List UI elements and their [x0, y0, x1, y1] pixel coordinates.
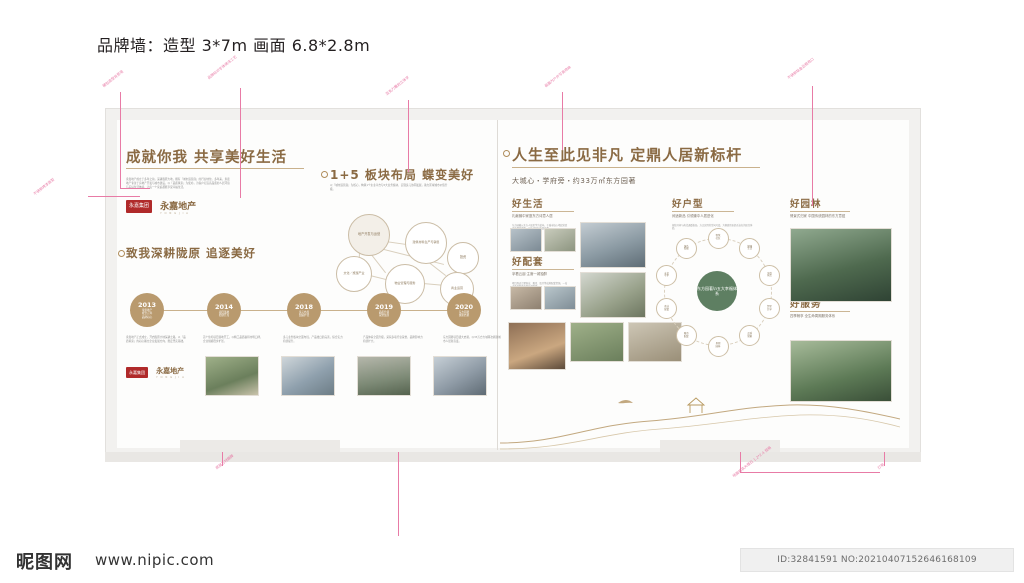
timeline-note: 焕新启幕 [459, 314, 469, 317]
flower-petal-label: 智慧社区 [716, 235, 721, 241]
section-desc-garden: 情景式归家 中国传统园林的东方意蕴 [790, 213, 845, 218]
flower-petal: 智慧社区 [708, 228, 729, 249]
leader-line [740, 472, 880, 473]
section-underline-amenities [512, 269, 574, 270]
panel-divider [497, 120, 498, 450]
leader-line [562, 92, 563, 150]
section-desc-unit: 阔适新品 引领臻中人居进化 [672, 213, 714, 218]
timeline-year: 2020 [455, 303, 473, 311]
flower-petal: 邻里共享 [759, 298, 780, 319]
leader-line [88, 196, 140, 197]
timeline-description: 产品体系全面升级，荣获多项行业荣誉，品牌影响力持续扩大。 [363, 336, 423, 344]
small-thumbnail [544, 228, 576, 252]
annotation-label: 不锈钢烤漆造型 [33, 178, 56, 197]
flower-petal-label: 安全守护 [664, 273, 669, 279]
block-node-label: 游产业 [356, 272, 365, 276]
flower-petal-label: 全龄乐活 [767, 273, 772, 279]
flower-petal-label: 品质管家 [747, 333, 752, 339]
block-node: 建筑材料生产与销售 [405, 222, 447, 264]
logo-pinyin-small: Y O N G J I A [156, 376, 185, 379]
annotation-label: 不锈钢钛金边框收口 [787, 57, 816, 81]
garden-photo [790, 228, 892, 302]
flower-petal-label: 商业配套 [664, 306, 669, 312]
logo-wordmark-text: 永嘉地产 [160, 202, 196, 212]
flower-core: 东方园著\n五大幸福体系 [697, 271, 737, 311]
flower-petal-label: 教育配套 [684, 333, 689, 339]
block-node-label: 与运营 [371, 233, 381, 237]
logo-pinyin: Y O N G J I A [160, 212, 196, 215]
block-node: 投资 [447, 242, 479, 274]
leader-line [240, 88, 241, 198]
timeline-node: 2019品质升级荣誉加身 [367, 293, 401, 327]
timeline-description: 永嘉地产正式成立，开启陇原大地深耕之路，以「品质筑家」的初心确立企业发展方向，奠… [126, 336, 186, 344]
section-underline-unit [672, 211, 734, 212]
board-base-notch-left [180, 440, 340, 452]
section-heading-garden: 好园林 [790, 196, 822, 210]
block-node-label: 物业管理 [394, 282, 406, 286]
small-thumbnail [544, 286, 576, 310]
render-thumbnail [580, 222, 646, 268]
block-node-label: 地产开发 [358, 233, 371, 237]
render-thumbnail [580, 272, 646, 318]
block-layout-title: 1+5 板块布局 蝶变美好 [330, 166, 474, 183]
timeline-year: 2019 [375, 303, 393, 311]
block-node: 地产开发与运营 [348, 214, 390, 256]
leader-line [740, 452, 741, 472]
flower-petal: 全龄乐活 [759, 265, 780, 286]
landscape-thumbnail [628, 322, 682, 362]
timeline-node: 2020东方园著焕新启幕 [447, 293, 481, 327]
project-thumbnail [433, 356, 487, 396]
image-id-badge: ID:32841591 NO:20210407152646168109 [740, 548, 1014, 572]
leader-line [120, 92, 121, 188]
logo-wordmark: 永嘉地产 Y O N G J I A [160, 199, 196, 215]
left-title-underline [126, 168, 304, 169]
right-title-underline [512, 167, 760, 168]
timeline-node: 2013永嘉地产成立元年品牌初心 [130, 293, 164, 327]
right-panel-subtitle: 大城心・学府旁・约33万㎡东方园著 [512, 176, 636, 186]
left-bottom-logo: 永嘉集团 永嘉地产 Y O N G J I A [126, 362, 185, 381]
page-title: 品牌墙：造型 3*7m 画面 6.8*2.8m [97, 32, 370, 56]
developer-logo: 永嘉集团 永嘉地产 Y O N G J I A [126, 196, 301, 210]
left-panel-subtitle: 致我深耕陇原 追逐美好 [126, 245, 256, 261]
flower-petal: 安全守护 [656, 265, 677, 286]
timeline-year: 2013 [138, 301, 156, 309]
small-thumbnail [510, 286, 542, 310]
timeline-node: 2018多元布局加速扩张 [287, 293, 321, 327]
timeline-note: 加速扩张 [299, 314, 309, 317]
flower-petal: 绿色低碳 [676, 238, 697, 259]
timeline-node: 2014项目落地稳健开局 [207, 293, 241, 327]
logo-wordmark-small: 永嘉地产 Y O N G J I A [156, 366, 185, 379]
timeline-description: 首个住宅项目落地开工，以精工品质赢得市场口碑，企业规模稳步扩张。 [203, 336, 263, 344]
section-heading-amenities: 好配套 [512, 254, 544, 268]
site-url[interactable]: www.nipic.com [95, 551, 214, 569]
timeline-note: 品牌初心 [142, 316, 152, 319]
poster-page: 品牌墙：造型 3*7m 画面 6.8*2.8m 成就你我 共享美好生活 永嘉地产… [0, 0, 1024, 583]
section-heading-life: 好生活 [512, 196, 544, 210]
interior-thumbnail [508, 322, 566, 370]
timeline-year: 2018 [295, 303, 313, 311]
flower-petal-label: 邻里共享 [767, 306, 772, 312]
flower-petal-label: 健康生活 [747, 246, 752, 252]
timeline-note: 稳健开局 [219, 314, 229, 317]
project-thumbnail [281, 356, 335, 396]
leader-line [398, 452, 399, 536]
logo-wordmark-small-text: 永嘉地产 [156, 367, 184, 375]
block-node-label: 与服务 [407, 282, 416, 286]
timeline-year: 2014 [215, 303, 233, 311]
landscape-thumbnail [570, 322, 624, 362]
timeline-note: 荣誉加身 [379, 314, 389, 317]
logo-badge: 永嘉集团 [126, 200, 152, 213]
block-node-label: 建筑材料 [412, 241, 424, 245]
section-underline-service [790, 311, 850, 312]
section-desc-life: 礼献臻中家庭东方诗意人居 [512, 213, 553, 218]
block-node: 文化／旅游产业 [336, 256, 372, 292]
leader-line [222, 452, 223, 466]
flower-petal: 景观园林 [708, 336, 729, 357]
timeline-description: 多元业务板块全面布局，产品线日趋完善，综合实力持续提升。 [283, 336, 343, 344]
block-node-label: 文化／旅 [343, 272, 355, 276]
footer-divider [0, 540, 1024, 541]
flower-petal-label: 绿色低碳 [684, 246, 689, 252]
flower-petal: 健康生活 [739, 238, 760, 259]
block-node-label: 投资 [460, 256, 466, 260]
logo-badge-small: 永嘉集团 [126, 367, 148, 378]
section-underline-life [512, 211, 574, 212]
small-thumbnail [510, 228, 542, 252]
decorative-curve [500, 385, 900, 455]
timeline-description: 东方园著项目盛大启幕，以33万方大城再次刷新城市人居新高度。 [443, 336, 503, 344]
block-node-label: 运营 [457, 287, 463, 291]
project-thumbnail [357, 356, 411, 396]
annotation-label: 品牌标识字体烤漆工艺 [207, 55, 238, 81]
section-underline-garden [790, 211, 850, 212]
leader-line [408, 100, 409, 172]
flower-petal-label: 景观园林 [716, 343, 721, 349]
block-node-label: 生产与销售 [425, 241, 440, 245]
section-desc-amenities: 拿看云起·主席一城独醉 [512, 271, 547, 276]
leader-line [812, 86, 813, 206]
annotation-label: 亚克力雕刻立体字 [385, 75, 411, 97]
project-thumbnail [205, 356, 259, 396]
section-desc-service: 四季畅享 全生命周期服务体系 [790, 313, 835, 318]
right-panel-title: 人生至此见非凡 定鼎人居新标杆 [512, 144, 742, 165]
section-heading-unit: 好户型 [672, 196, 704, 210]
flower-petal: 教育配套 [676, 325, 697, 346]
annotation-label: 硬包造型背景墙 [102, 70, 125, 89]
annotation-label: 画面为户外写真喷绘 [544, 65, 573, 89]
leader-line [884, 452, 885, 466]
block-layout-sub: 以「城市运营商」为核心，构筑1个主业平台与5大业务板块，实现多元协同发展，助力区… [330, 184, 450, 192]
site-logo: 昵图网 [16, 548, 73, 574]
leader-line [120, 188, 150, 189]
left-panel-title: 成就你我 共享美好生活 [126, 146, 287, 167]
